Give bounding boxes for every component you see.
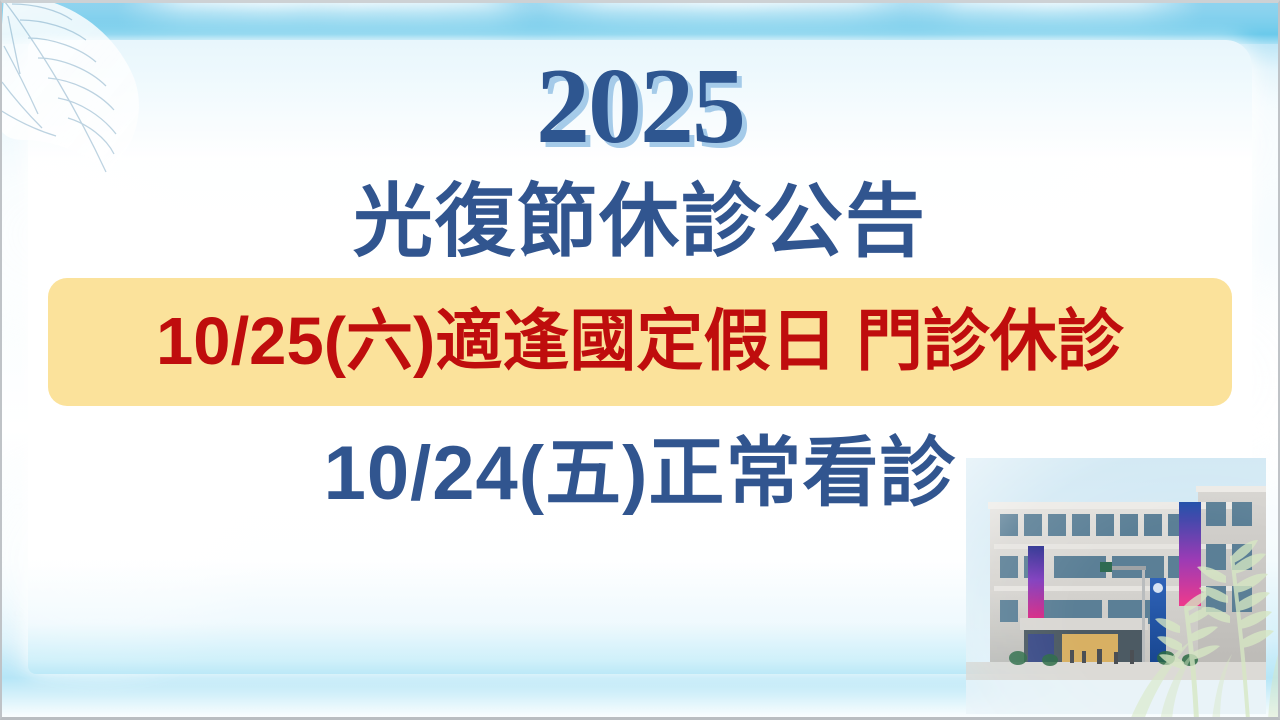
holiday-closure-announcement-poster: 2025 光復節休診公告 10/25(六)適逢國定假日 門診休診 10/24(五…: [0, 0, 1280, 720]
open-day-notice-text: 10/24(五)正常看診: [28, 430, 1252, 518]
page-title: 光復節休診公告: [28, 174, 1252, 270]
highlight-row: 10/25(六)適逢國定假日 門診休診: [28, 278, 1252, 406]
sky-band: [0, 0, 1280, 44]
status-badge: 10/25(六)適逢國定假日 門診休診: [48, 278, 1232, 406]
year-title: 2025: [28, 48, 1252, 166]
closure-notice-text: 10/25(六)適逢國定假日 門診休診: [156, 306, 1124, 378]
announcement-content: 2025 光復節休診公告 10/25(六)適逢國定假日 門診休診 10/24(五…: [28, 40, 1252, 674]
